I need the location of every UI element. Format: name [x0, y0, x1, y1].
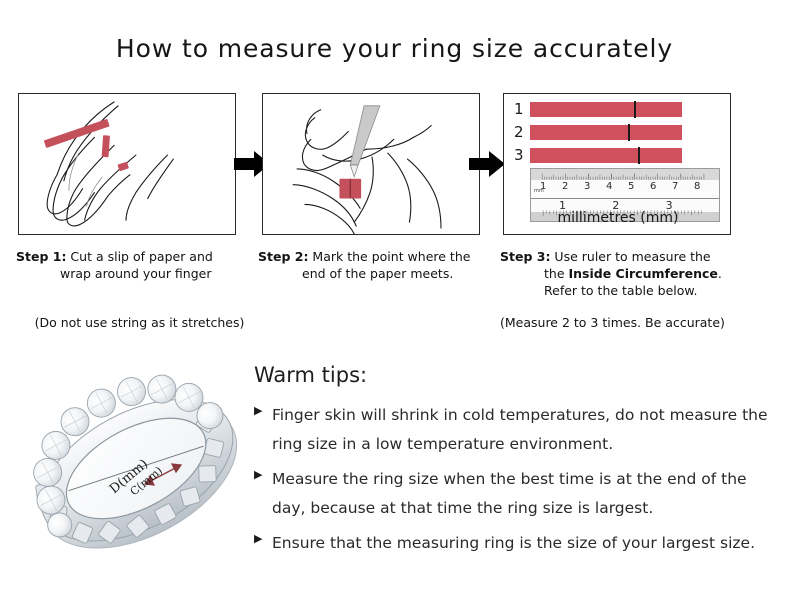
eternity-ring-illustration: D(mm) C(mm): [18, 352, 258, 597]
strip-number-1: 1: [514, 102, 530, 117]
hand-with-paper-slip-illustration: [19, 94, 235, 234]
tip-text-2: Measure the ring size when the best time…: [272, 465, 774, 523]
paper-strip-row-3: 3: [514, 148, 682, 163]
triangle-bullet-icon: ▶: [254, 465, 272, 480]
warm-tips-heading: Warm tips:: [254, 363, 774, 387]
page-title: How to measure your ring size accurately: [0, 34, 789, 63]
paper-strip-row-1: 1: [514, 102, 682, 117]
step-1-lead: Step 1:: [16, 249, 66, 264]
step-2-line1: Mark the point where the: [308, 249, 470, 264]
step-2-line2: end of the paper meets.: [258, 265, 498, 282]
triangle-bullet-icon: ▶: [254, 401, 272, 416]
step-3-line2-pre: the: [544, 266, 569, 281]
step-3-line2: the Inside Circumference.: [500, 265, 770, 282]
triangle-bullet-icon: ▶: [254, 529, 272, 544]
paper-strip-3: [530, 148, 682, 163]
strip-mark-1: [634, 101, 636, 118]
step-2-caption: Step 2: Mark the point where the end of …: [258, 248, 498, 282]
step-1-line2: wrap around your finger: [16, 265, 256, 282]
tip-item: ▶ Measure the ring size when the best ti…: [254, 465, 774, 523]
tip-item: ▶ Ensure that the measuring ring is the …: [254, 529, 774, 558]
step-1-image-panel: [18, 93, 236, 235]
tip-text-3: Ensure that the measuring ring is the si…: [272, 529, 774, 558]
strip-number-3: 3: [514, 148, 530, 163]
ruler-unit-caption: millimetres (mm): [504, 210, 731, 226]
step-3-line2-post: .: [718, 266, 722, 281]
step-3-lead: Step 3:: [500, 249, 550, 264]
paper-strip-row-2: 2: [514, 125, 682, 140]
steps-row: 1 2 3 mm 1 2 3 4 5 6 7: [0, 93, 789, 338]
paper-strip-1: [530, 102, 682, 117]
step-3-line1: Use ruler to measure the: [550, 249, 710, 264]
warm-tips-section: Warm tips: ▶ Finger skin will shrink in …: [254, 363, 774, 564]
step-2-image-panel: [262, 93, 480, 235]
step-1-note: (Do not use string as it stretches): [22, 315, 257, 330]
step-3-line3: Refer to the table below.: [500, 282, 770, 299]
step-3-image-panel: 1 2 3 mm 1 2 3 4 5 6 7: [503, 93, 731, 235]
strip-mark-2: [628, 124, 630, 141]
step-2-lead: Step 2:: [258, 249, 308, 264]
step-3-inside-circumference-emphasis: Inside Circumference: [569, 266, 718, 281]
step-3-note: (Measure 2 to 3 times. Be accurate): [500, 315, 765, 330]
step-1-caption: Step 1: Cut a slip of paper and wrap aro…: [16, 248, 256, 282]
step-3-caption: Step 3: Use ruler to measure the the Ins…: [500, 248, 770, 299]
hand-marking-paper-illustration: [263, 94, 479, 234]
ring-diagram: D(mm) C(mm): [18, 352, 258, 597]
strip-number-2: 2: [514, 125, 530, 140]
tip-text-1: Finger skin will shrink in cold temperat…: [272, 401, 774, 459]
strip-mark-3: [638, 147, 640, 164]
paper-strip-2: [530, 125, 682, 140]
step-1-line1: Cut a slip of paper and: [66, 249, 212, 264]
arrow-step2-to-step3: [469, 149, 505, 179]
tip-item: ▶ Finger skin will shrink in cold temper…: [254, 401, 774, 459]
